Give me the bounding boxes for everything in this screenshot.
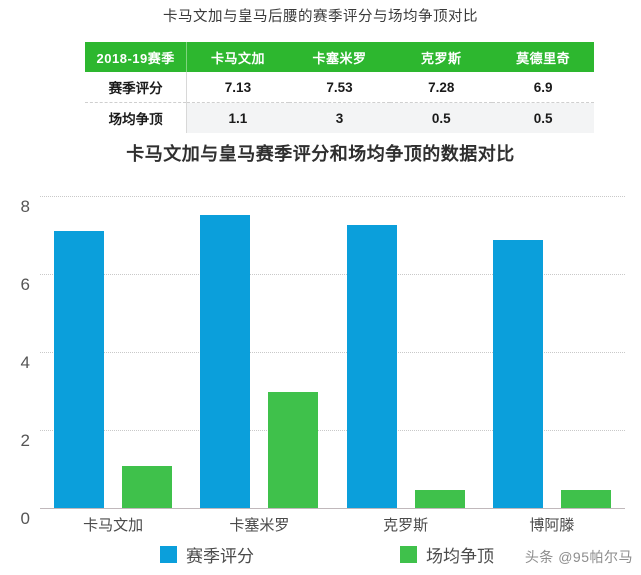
legend-item-aerials[interactable]: 场均争顶 bbox=[400, 542, 494, 567]
table-row-label-rating: 赛季评分 bbox=[85, 72, 187, 103]
bar-rating-3 bbox=[493, 240, 543, 509]
bar-chart: 02468 卡马文加卡塞米罗克罗斯博阿滕 赛季评分场均争顶 bbox=[0, 180, 641, 575]
table-row: 场均争顶 1.1 3 0.5 0.5 bbox=[85, 103, 594, 134]
table-header-cell-modric: 莫德里奇 bbox=[492, 42, 594, 72]
x-axis-label-2: 克罗斯 bbox=[383, 514, 428, 535]
legend-label: 赛季评分 bbox=[186, 542, 254, 567]
x-axis-label-0: 卡马文加 bbox=[83, 514, 143, 535]
x-axis-label-1: 卡塞米罗 bbox=[229, 514, 289, 535]
table-header-row: 2018-19赛季 卡马文加 卡塞米罗 克罗斯 莫德里奇 bbox=[85, 42, 594, 72]
table-cell-rating-kroos: 7.28 bbox=[390, 72, 492, 103]
table-header-cell-camavinga: 卡马文加 bbox=[187, 42, 289, 72]
chart-title: 卡马文加与皇马赛季评分和场均争顶的数据对比 bbox=[0, 140, 641, 166]
chart-plot-area: 02468 bbox=[40, 197, 625, 509]
comparison-table: 2018-19赛季 卡马文加 卡塞米罗 克罗斯 莫德里奇 赛季评分 7.13 7… bbox=[85, 42, 594, 133]
table-cell-rating-modric: 6.9 bbox=[492, 72, 594, 103]
legend-label: 场均争顶 bbox=[426, 542, 494, 567]
table-cell-aerials-modric: 0.5 bbox=[492, 103, 594, 134]
chart-bars bbox=[40, 197, 625, 509]
bar-aerials-1 bbox=[268, 392, 318, 509]
bar-aerials-0 bbox=[122, 466, 172, 509]
chart-x-axis-line bbox=[40, 508, 625, 509]
chart-x-axis-labels: 卡马文加卡塞米罗克罗斯博阿滕 bbox=[40, 514, 625, 538]
table-cell-aerials-kroos: 0.5 bbox=[390, 103, 492, 134]
table-cell-aerials-casemiro: 3 bbox=[289, 103, 391, 134]
legend-item-rating[interactable]: 赛季评分 bbox=[160, 542, 254, 567]
table-header-cell-season: 2018-19赛季 bbox=[85, 42, 187, 72]
x-axis-label-3: 博阿滕 bbox=[529, 514, 574, 535]
page-title: 卡马文加与皇马后腰的赛季评分与场均争顶对比 bbox=[0, 0, 641, 26]
watermark: 头条 @95帕尔马 bbox=[525, 547, 633, 567]
bar-aerials-3 bbox=[561, 490, 611, 510]
table-cell-rating-camavinga: 7.13 bbox=[187, 72, 289, 103]
table-header-cell-casemiro: 卡塞米罗 bbox=[289, 42, 391, 72]
bar-rating-2 bbox=[347, 225, 397, 509]
table-cell-aerials-camavinga: 1.1 bbox=[187, 103, 289, 134]
bar-rating-1 bbox=[200, 215, 250, 509]
table-cell-rating-casemiro: 7.53 bbox=[289, 72, 391, 103]
bar-aerials-2 bbox=[415, 490, 465, 510]
bar-rating-0 bbox=[54, 231, 104, 509]
table-row: 赛季评分 7.13 7.53 7.28 6.9 bbox=[85, 72, 594, 103]
legend-swatch-icon bbox=[160, 546, 177, 563]
table-row-label-aerials: 场均争顶 bbox=[85, 103, 187, 134]
legend-swatch-icon bbox=[400, 546, 417, 563]
table-header-cell-kroos: 克罗斯 bbox=[390, 42, 492, 72]
